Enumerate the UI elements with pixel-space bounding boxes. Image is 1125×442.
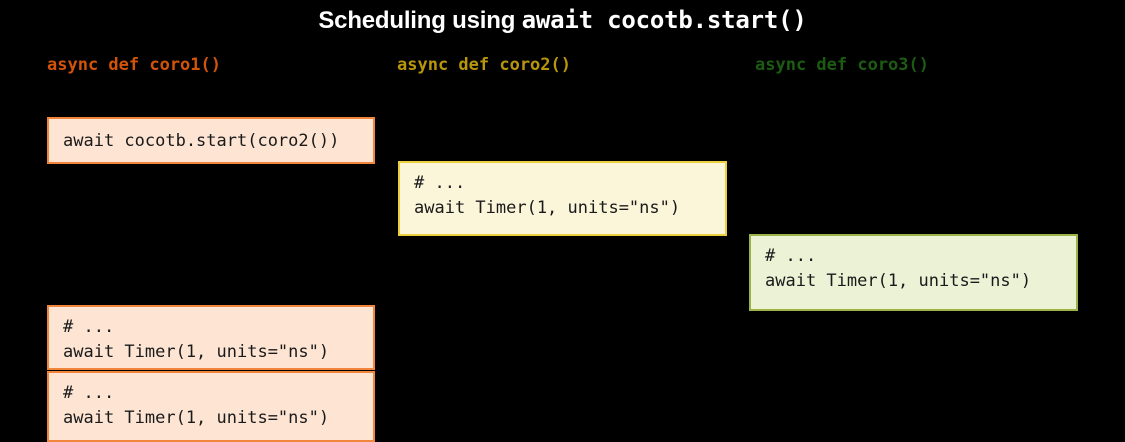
column-header-coro2: async def coro2() [397,55,571,75]
diagram-title: Scheduling using await cocotb.start() [0,6,1125,35]
code-block-coro2-timer: # ... await Timer(1, units="ns") [398,161,727,236]
code-line: # ... await Timer(1, units="ns") [765,244,1076,294]
column-header-coro1: async def coro1() [47,55,221,75]
code-line: # ... await Timer(1, units="ns") [414,171,725,221]
code-block-coro1-timer-b: # ... await Timer(1, units="ns") [47,371,375,442]
code-block-coro1-timer-a: # ... await Timer(1, units="ns") [47,305,375,370]
code-line: # ... await Timer(1, units="ns") [63,381,373,431]
code-block-coro3-timer: # ... await Timer(1, units="ns") [749,234,1078,311]
code-line: await cocotb.start(coro2()) [63,129,373,154]
column-header-coro3: async def coro3() [755,55,929,75]
diagram-title-plain: Scheduling using [318,7,521,34]
code-block-coro1-start-call: await cocotb.start(coro2()) [47,117,375,164]
diagram-title-code: await cocotb.start() [522,6,807,34]
code-line: # ... await Timer(1, units="ns") [63,315,373,365]
